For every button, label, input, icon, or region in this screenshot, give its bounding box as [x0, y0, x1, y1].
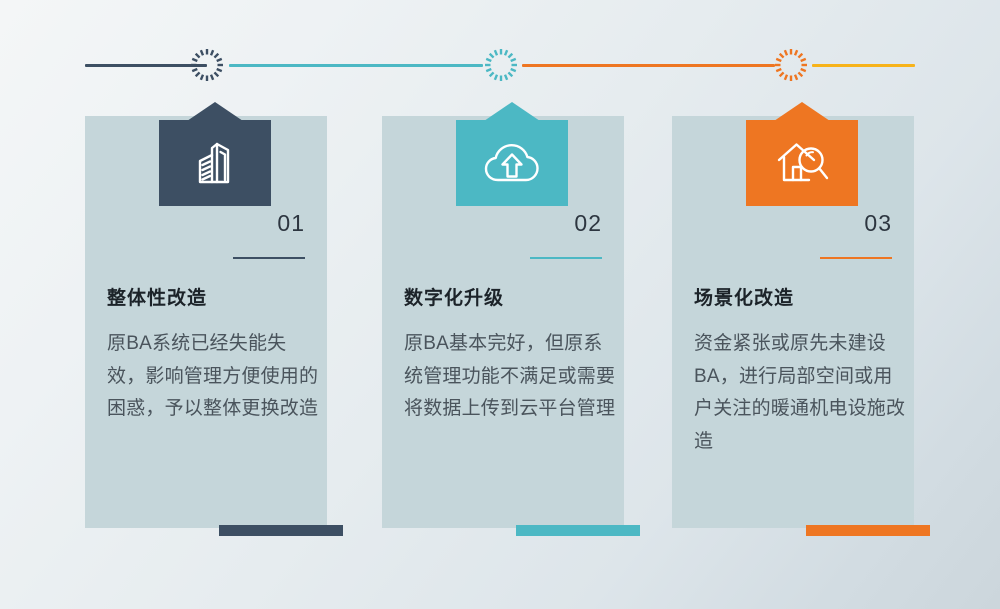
icon-box	[159, 102, 271, 206]
card-accent-bar	[806, 525, 930, 536]
card-number: 01	[277, 212, 305, 235]
icon-notch	[774, 102, 830, 121]
card-divider	[233, 257, 305, 259]
card-divider	[820, 257, 892, 259]
card-title: 场景化改造	[694, 288, 794, 311]
timeline-marker-3[interactable]	[770, 44, 812, 86]
card-body: 资金紧张或原先未建设BA，进行局部空间或用户关注的暖通机电设施改造	[694, 328, 906, 459]
card-number: 02	[574, 212, 602, 235]
card-03: 03场景化改造资金紧张或原先未建设BA，进行局部空间或用户关注的暖通机电设施改造	[672, 116, 914, 528]
card-body: 原BA基本完好，但原系统管理功能不满足或需要将数据上传到云平台管理	[404, 328, 616, 426]
card-01: 01整体性改造原BA系统已经失能失效，影响管理方便使用的困惑，予以整体更换改造	[85, 116, 327, 528]
card-02: 02数字化升级原BA基本完好，但原系统管理功能不满足或需要将数据上传到云平台管理	[382, 116, 624, 528]
timeline-marker-1[interactable]	[186, 44, 228, 86]
icon-box	[456, 102, 568, 206]
house-search-icon-glyph	[773, 136, 831, 190]
card-title: 整体性改造	[107, 288, 207, 311]
timeline-marker-2[interactable]	[480, 44, 522, 86]
buildings-icon-glyph	[187, 135, 243, 191]
segment-teal	[229, 64, 483, 67]
card-divider	[530, 257, 602, 259]
card-accent-bar	[516, 525, 640, 536]
icon-notch	[187, 102, 243, 121]
infographic-canvas: 01整体性改造原BA系统已经失能失效，影响管理方便使用的困惑，予以整体更换改造0…	[0, 0, 1000, 609]
house-search-icon	[746, 120, 858, 206]
cloud-upload-icon-glyph	[481, 138, 543, 188]
card-body: 原BA系统已经失能失效，影响管理方便使用的困惑，予以整体更换改造	[107, 328, 319, 426]
card-accent-bar	[219, 525, 343, 536]
icon-box	[746, 102, 858, 206]
card-title: 数字化升级	[404, 288, 504, 311]
segment-orange	[522, 64, 775, 67]
segment-amber	[812, 64, 915, 67]
buildings-icon	[159, 120, 271, 206]
card-number: 03	[864, 212, 892, 235]
cloud-upload-icon	[456, 120, 568, 206]
icon-notch	[484, 102, 540, 121]
